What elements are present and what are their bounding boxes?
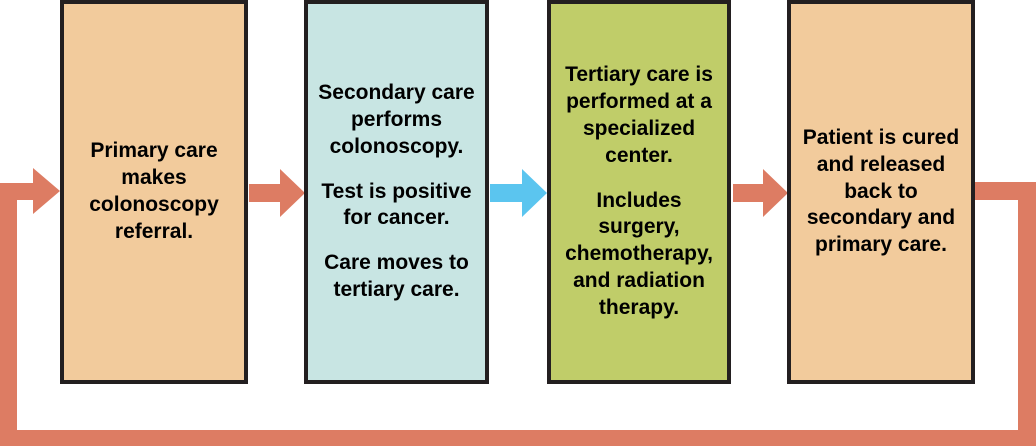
node-patient-cured-text-1: Patient is cured and released back to se… [801, 125, 961, 259]
flowchart-canvas: Primary care makes colonoscopy referral.… [0, 0, 1036, 446]
feedback-loop-segment-bottom [0, 430, 1036, 446]
node-patient-cured[interactable]: Patient is cured and released back to se… [787, 0, 975, 384]
feedback-loop-segment-right-vertical [1018, 182, 1036, 431]
node-tertiary-care[interactable]: Tertiary care is performed at a speciali… [547, 0, 731, 384]
feedback-loop-arrowhead-icon [0, 168, 60, 214]
node-secondary-care-text-1: Secondary care performs colonoscopy. [318, 80, 475, 161]
arrow-tertiary-to-cured-icon [733, 168, 788, 218]
arrow-secondary-to-tertiary-icon [490, 168, 547, 218]
node-primary-care[interactable]: Primary care makes colonoscopy referral. [60, 0, 248, 384]
node-tertiary-care-text-2: Includes surgery, chemotherapy, and radi… [561, 188, 717, 322]
node-secondary-care-text-2: Test is positive for cancer. [318, 179, 475, 233]
arrow-primary-to-secondary-icon [249, 168, 305, 218]
node-secondary-care-text-3: Care moves to tertiary care. [318, 250, 475, 304]
node-primary-care-text-1: Primary care makes colonoscopy referral. [74, 138, 234, 246]
node-tertiary-care-text-1: Tertiary care is performed at a speciali… [561, 62, 717, 170]
node-secondary-care[interactable]: Secondary care performs colonoscopy. Tes… [304, 0, 489, 384]
feedback-loop-segment-left-vertical [0, 183, 17, 431]
